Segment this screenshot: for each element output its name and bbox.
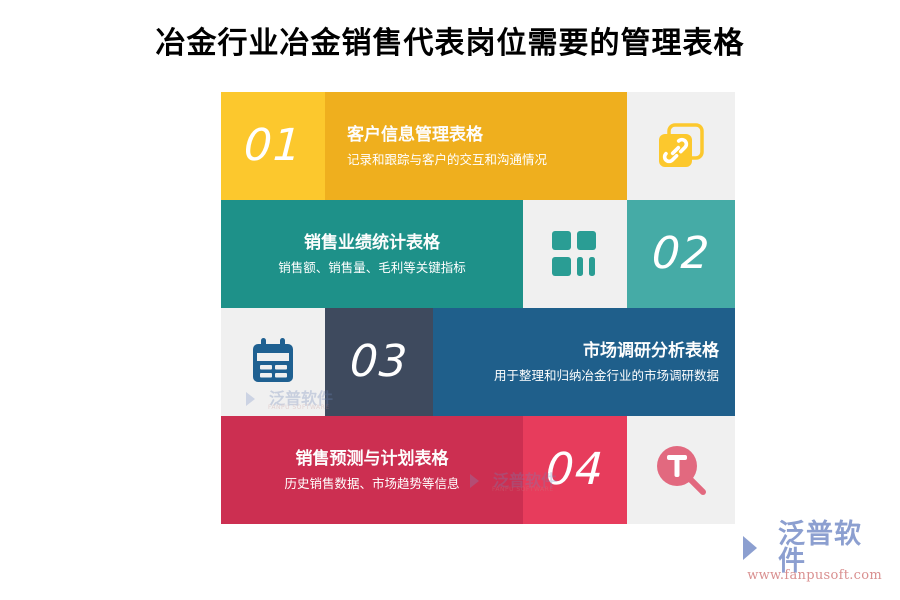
row-01-text-block[interactable]: 客户信息管理表格 记录和跟踪与客户的交互和沟通情况 xyxy=(325,92,627,200)
page-title: 冶金行业冶金销售代表岗位需要的管理表格 xyxy=(0,18,900,62)
row-03-heading: 市场调研分析表格 xyxy=(583,340,719,363)
row-01-heading: 客户信息管理表格 xyxy=(347,124,483,147)
link-copy-icon xyxy=(655,120,707,172)
calendar-icon xyxy=(247,336,299,388)
row-04-subtitle: 历史销售数据、市场趋势等信息 xyxy=(284,476,459,492)
row-04-heading: 销售预测与计划表格 xyxy=(296,448,449,471)
row-01-icon-block[interactable] xyxy=(627,92,735,200)
row-01-number-block[interactable]: 01 xyxy=(221,92,325,200)
brand-name: 泛普软件 xyxy=(778,521,882,575)
row-02-number-block[interactable]: 02 xyxy=(627,200,735,308)
row-04-text-block[interactable]: 销售预测与计划表格 历史销售数据、市场趋势等信息 xyxy=(221,416,523,524)
row-01-number: 01 xyxy=(243,124,303,168)
text-search-icon xyxy=(653,442,709,498)
row-01-subtitle: 记录和跟踪与客户的交互和沟通情况 xyxy=(347,152,547,168)
info-row-01: 01 客户信息管理表格 记录和跟踪与客户的交互和沟通情况 xyxy=(221,92,735,200)
row-03-number: 03 xyxy=(349,340,409,384)
row-03-number-block[interactable]: 03 xyxy=(325,308,433,416)
row-04-number: 04 xyxy=(545,448,605,492)
row-02-text-block[interactable]: 销售业绩统计表格 销售额、销售量、毛利等关键指标 xyxy=(221,200,523,308)
brand-logo: 泛普软件 www.fanpusoft.com xyxy=(740,530,882,588)
info-row-03: 03 市场调研分析表格 用于整理和归纳冶金行业的市场调研数据 xyxy=(221,308,735,416)
row-03-icon-block[interactable] xyxy=(221,308,325,416)
row-03-subtitle: 用于整理和归纳冶金行业的市场调研数据 xyxy=(494,368,719,384)
brand-row: 泛普软件 xyxy=(740,530,882,566)
row-04-icon-block[interactable] xyxy=(627,416,735,524)
row-03-text-block[interactable]: 市场调研分析表格 用于整理和归纳冶金行业的市场调研数据 xyxy=(433,308,735,416)
infographic-board: 01 客户信息管理表格 记录和跟踪与客户的交互和沟通情况 xyxy=(221,92,735,524)
row-04-number-block[interactable]: 04 xyxy=(523,416,627,524)
row-02-heading: 销售业绩统计表格 xyxy=(304,232,440,255)
row-02-subtitle: 销售额、销售量、毛利等关键指标 xyxy=(278,260,466,276)
fanpu-logo-icon xyxy=(740,531,774,565)
row-02-number: 02 xyxy=(651,232,711,276)
info-row-04: 销售预测与计划表格 历史销售数据、市场趋势等信息 04 xyxy=(221,416,735,524)
info-row-02: 销售业绩统计表格 销售额、销售量、毛利等关键指标 02 xyxy=(221,200,735,308)
row-02-icon-block[interactable] xyxy=(523,200,627,308)
dashboard-grid-icon xyxy=(550,229,600,279)
brand-url: www.fanpusoft.com xyxy=(740,568,882,583)
